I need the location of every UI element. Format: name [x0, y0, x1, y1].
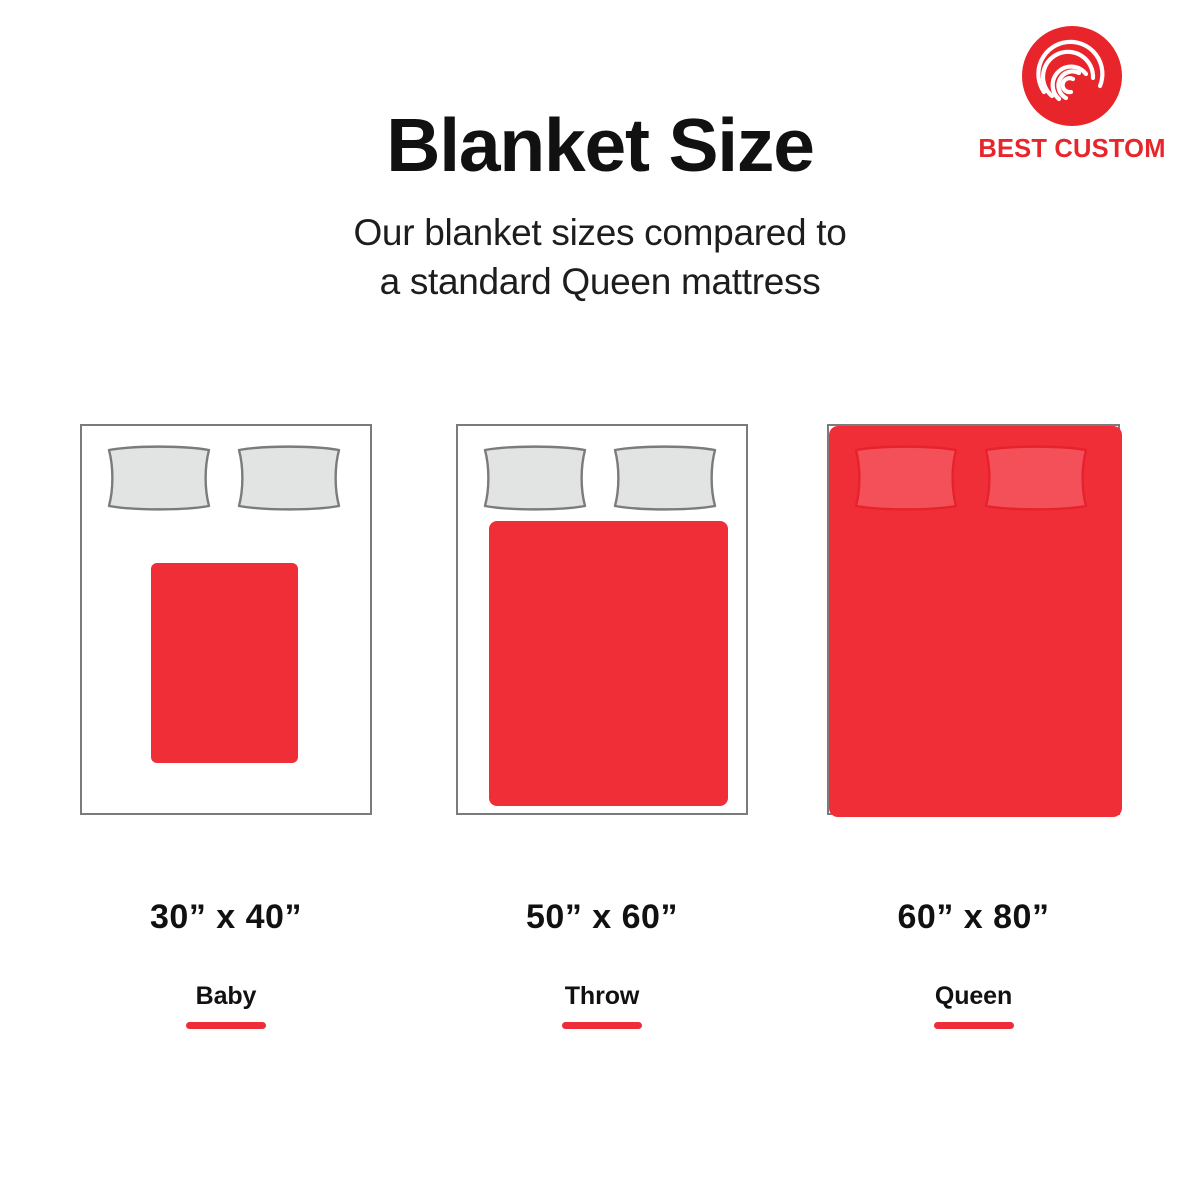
size-name-queen: Queen: [827, 984, 1120, 1009]
label-row: 30” x 40” Baby 50” x 60” Throw 60” x 80”…: [0, 900, 1200, 1060]
bed-diagram-baby: [80, 424, 372, 815]
dimensions-label-queen: 60” x 80”: [827, 900, 1120, 934]
pillow-icon-left-throw: [481, 445, 589, 511]
blanket-size-infographic: BEST CUSTOM Blanket Size Our blanket siz…: [0, 0, 1200, 1200]
pillow-icon-right-throw: [611, 445, 719, 511]
size-name-throw: Throw: [456, 984, 748, 1009]
mattress-outline-baby: [80, 424, 372, 815]
page-subtitle-line-2: a standard Queen mattress: [0, 258, 1200, 307]
bed-diagram-throw: [456, 424, 748, 815]
page-subtitle: Our blanket sizes compared to a standard…: [0, 209, 1200, 307]
label-group-baby: 30” x 40” Baby: [80, 900, 372, 1029]
pillow-icon-right-queen: [982, 445, 1090, 511]
underline-rule-baby: [186, 1022, 266, 1029]
label-group-throw: 50” x 60” Throw: [456, 900, 748, 1029]
pillow-icon-right-baby: [235, 445, 343, 511]
bed-diagram-queen: [827, 424, 1120, 815]
page-title: Blanket Size: [0, 108, 1200, 183]
pillow-icon-left-baby: [105, 445, 213, 511]
dimensions-label-baby: 30” x 40”: [80, 900, 372, 934]
label-group-queen: 60” x 80” Queen: [827, 900, 1120, 1029]
dimensions-label-throw: 50” x 60”: [456, 900, 748, 934]
blanket-shape-baby: [151, 563, 298, 763]
pillow-icon-left-queen: [852, 445, 960, 511]
page-subtitle-line-1: Our blanket sizes compared to: [0, 209, 1200, 258]
underline-rule-queen: [934, 1022, 1014, 1029]
mattress-outline-queen: [827, 424, 1120, 815]
headline-block: Blanket Size Our blanket sizes compared …: [0, 108, 1200, 307]
mattress-outline-throw: [456, 424, 748, 815]
blanket-shape-throw: [489, 521, 728, 806]
bed-comparison-row: [0, 424, 1200, 824]
size-name-baby: Baby: [80, 984, 372, 1009]
underline-rule-throw: [562, 1022, 642, 1029]
